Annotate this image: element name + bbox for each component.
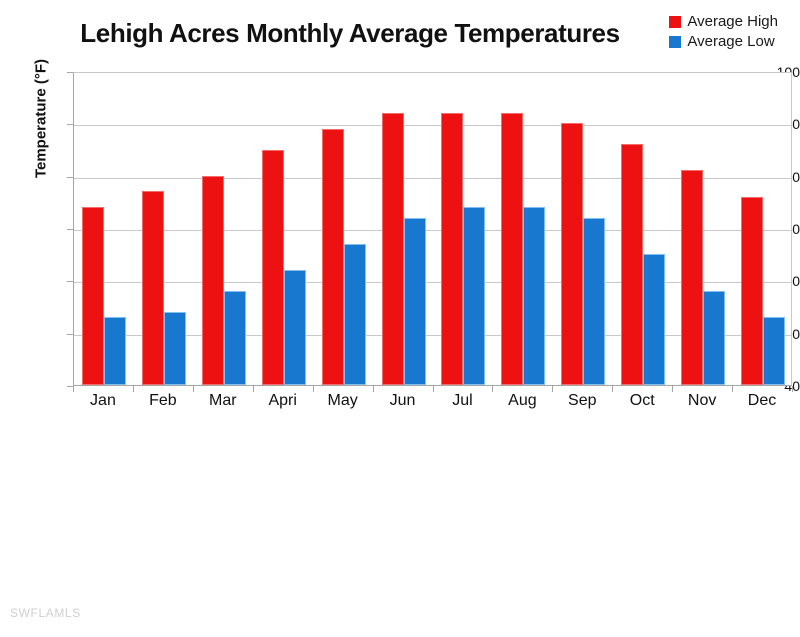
plot-area: [73, 72, 792, 386]
bar-average-high: [441, 113, 463, 385]
bar-average-low: [583, 218, 605, 385]
x-tick-label: Jan: [73, 392, 133, 410]
legend-swatch-average-low: [669, 36, 681, 48]
bar-average-low: [643, 254, 665, 385]
legend-swatch-average-high: [669, 16, 681, 28]
chart-title: Lehigh Acres Monthly Average Temperature…: [70, 18, 630, 49]
bar-average-high: [741, 197, 763, 385]
y-axis-title: Temperature (°F): [33, 29, 50, 209]
legend-label-average-low: Average Low: [687, 33, 774, 50]
x-tick-label: Jul: [432, 392, 492, 410]
x-tick-label: Aug: [492, 392, 552, 410]
bar-average-low: [104, 317, 126, 385]
bar-average-high: [561, 123, 583, 385]
x-tick-mark: [732, 386, 733, 392]
bar-average-high: [142, 191, 164, 385]
chart-legend: Average High Average Low: [669, 13, 778, 50]
x-tick-label: Sep: [552, 392, 612, 410]
x-tick-mark: [433, 386, 434, 392]
bar-average-high: [322, 129, 344, 385]
bar-average-high: [382, 113, 404, 385]
bar-average-high: [262, 150, 284, 386]
x-tick-label: May: [313, 392, 373, 410]
legend-label-average-high: Average High: [687, 13, 778, 30]
bar-average-low: [763, 317, 785, 385]
bar-average-low: [703, 291, 725, 385]
bar-average-high: [82, 207, 104, 385]
x-tick-mark: [73, 386, 74, 392]
bar-average-low: [523, 207, 545, 385]
watermark: SWFLAMLS: [10, 606, 81, 620]
x-tick-mark: [193, 386, 194, 392]
legend-entry-average-low: Average Low: [669, 33, 778, 50]
x-tick-mark: [552, 386, 553, 392]
x-tick-label: Oct: [612, 392, 672, 410]
x-tick-mark: [792, 386, 793, 392]
bar-average-low: [284, 270, 306, 385]
x-tick-mark: [313, 386, 314, 392]
x-tick-label: Apri: [253, 392, 313, 410]
bar-average-high: [681, 170, 703, 385]
bar-average-low: [404, 218, 426, 385]
bar-average-low: [224, 291, 246, 385]
legend-entry-average-high: Average High: [669, 13, 778, 30]
x-tick-label: Jun: [373, 392, 433, 410]
bar-average-low: [344, 244, 366, 385]
x-tick-mark: [672, 386, 673, 392]
x-tick-mark: [492, 386, 493, 392]
bar-average-high: [202, 176, 224, 385]
x-tick-label: Dec: [732, 392, 792, 410]
x-tick-mark: [253, 386, 254, 392]
x-tick-mark: [133, 386, 134, 392]
x-tick-mark: [612, 386, 613, 392]
temperature-bar-chart: Lehigh Acres Monthly Average Temperature…: [0, 0, 800, 637]
bar-average-low: [463, 207, 485, 385]
x-tick-label: Mar: [193, 392, 253, 410]
x-tick-label: Feb: [133, 392, 193, 410]
bar-average-high: [501, 113, 523, 385]
x-tick-mark: [373, 386, 374, 392]
bar-average-low: [164, 312, 186, 385]
bar-average-high: [621, 144, 643, 385]
x-tick-label: Nov: [672, 392, 732, 410]
gridline: [74, 125, 791, 126]
